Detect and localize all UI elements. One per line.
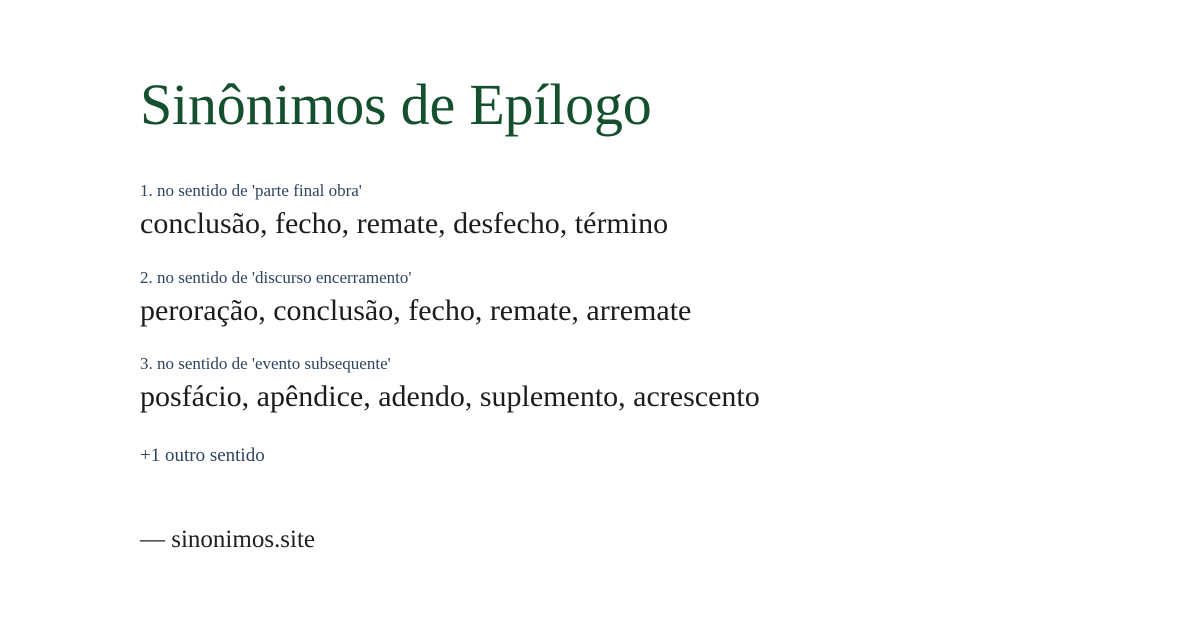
- sense-synonyms: conclusão, fecho, remate, desfecho, térm…: [140, 205, 1100, 243]
- site-attribution: — sinonimos.site: [140, 524, 315, 557]
- sense-label: 1. no sentido de 'parte final obra': [140, 180, 1100, 203]
- sense-block-1: 1. no sentido de 'parte final obra' conc…: [140, 180, 1100, 243]
- more-senses-note: +1 outro sentido: [140, 444, 265, 469]
- page-title: Sinônimos de Epílogo: [140, 76, 652, 134]
- sense-block-2: 2. no sentido de 'discurso encerramento'…: [140, 267, 1100, 330]
- sense-synonyms: peroração, conclusão, fecho, remate, arr…: [140, 292, 1100, 330]
- sense-synonyms: posfácio, apêndice, adendo, suplemento, …: [140, 378, 1100, 416]
- sense-label: 2. no sentido de 'discurso encerramento': [140, 267, 1100, 290]
- sense-block-3: 3. no sentido de 'evento subsequente' po…: [140, 353, 1100, 416]
- synonym-card: Sinônimos de Epílogo 1. no sentido de 'p…: [0, 0, 1200, 628]
- sense-list: 1. no sentido de 'parte final obra' conc…: [140, 180, 1100, 416]
- sense-label: 3. no sentido de 'evento subsequente': [140, 353, 1100, 376]
